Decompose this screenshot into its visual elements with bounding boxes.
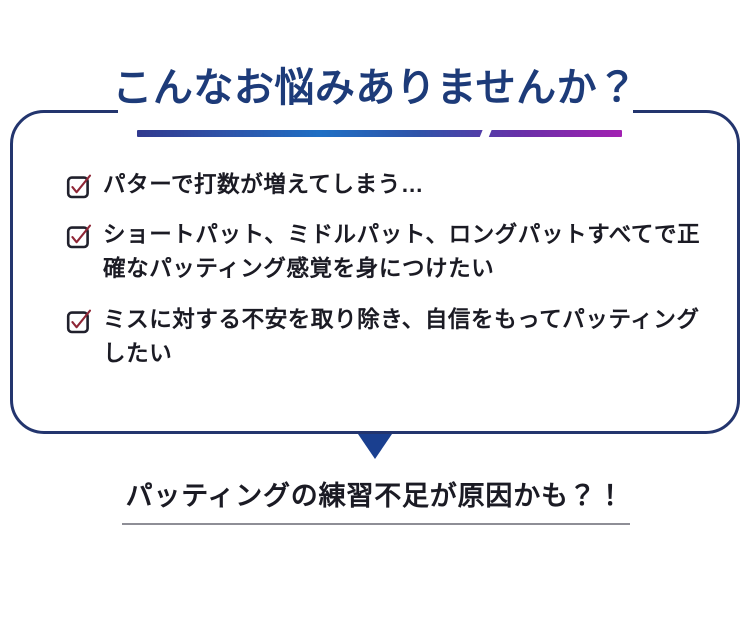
- footer-underline: [122, 523, 630, 525]
- problem-checklist: パターで打数が増えてしまう… ショートパット、ミドルパット、ロングパットすべてで…: [66, 168, 706, 371]
- footer-conclusion-text: パッティングの練習不足が原因かも？！: [126, 480, 625, 512]
- page-title: こんなお悩みありませんか？: [112, 66, 637, 111]
- heading-underline-gradient: [137, 130, 622, 137]
- checked-checkbox-icon: [66, 309, 92, 335]
- footer-container: パッティングの練習不足が原因かも？！: [0, 480, 750, 512]
- heading-container: こんなお悩みありませんか？: [0, 66, 750, 111]
- checked-checkbox-icon: [66, 174, 92, 200]
- list-item-label: ミスに対する不安を取り除き、自信をもってパッティングしたい: [103, 303, 706, 371]
- list-item: パターで打数が増えてしまう…: [66, 168, 706, 202]
- list-item-label: パターで打数が増えてしまう…: [103, 168, 424, 202]
- promo-banner: こんなお悩みありませんか？ パターで打数が増えてしまう… ショートパット、ミドル…: [0, 0, 750, 634]
- list-item: ショートパット、ミドルパット、ロングパットすべてで正確なパッティング感覚を身につ…: [66, 218, 706, 286]
- list-item-label: ショートパット、ミドルパット、ロングパットすべてで正確なパッティング感覚を身につ…: [103, 218, 706, 286]
- list-item: ミスに対する不安を取り除き、自信をもってパッティングしたい: [66, 303, 706, 371]
- checked-checkbox-icon: [66, 224, 92, 250]
- down-arrow-icon: [358, 434, 392, 459]
